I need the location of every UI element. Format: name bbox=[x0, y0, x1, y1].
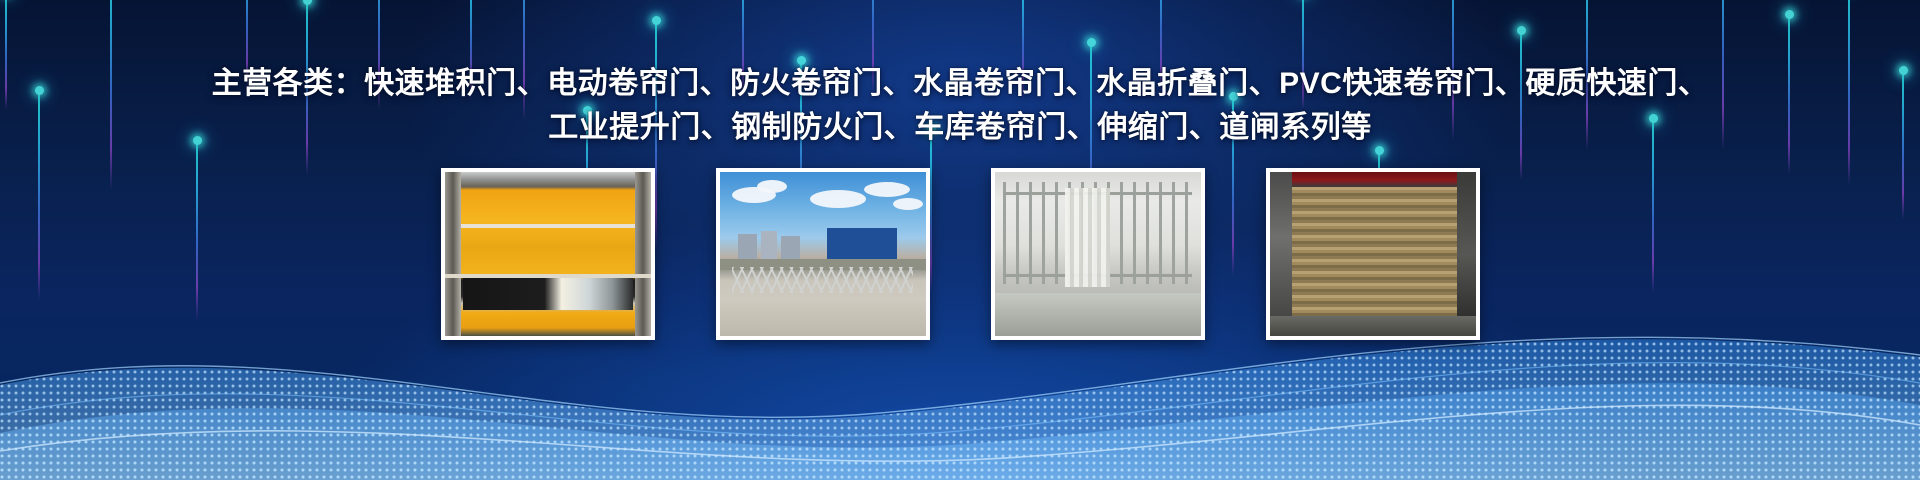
light-dot-icon bbox=[652, 16, 661, 25]
light-dot-icon bbox=[1785, 10, 1794, 19]
door-frame-left bbox=[445, 172, 461, 336]
product-photo-retractable-gate-outdoor[interactable] bbox=[716, 168, 930, 340]
light-dot-icon bbox=[1517, 26, 1526, 35]
banner-headline: 主营各类：快速堆积门、电动卷帘门、防火卷帘门、水晶卷帘门、水晶折叠门、PVC快速… bbox=[0, 62, 1920, 150]
headline-line-1: 主营各类：快速堆积门、电动卷帘门、防火卷帘门、水晶卷帘门、水晶折叠门、PVC快速… bbox=[0, 62, 1920, 106]
headline-line-2: 工业提升门、钢制防火门、车库卷帘门、伸缩门、道闸系列等 bbox=[0, 106, 1920, 150]
cloud-shape bbox=[864, 182, 910, 197]
building-shape bbox=[781, 236, 800, 259]
product-photo-bronze-garage-roller-shutter[interactable] bbox=[1266, 168, 1480, 340]
product-photo-yellow-high-speed-stacking-door[interactable] bbox=[441, 168, 655, 340]
promo-banner: 主营各类：快速堆积门、电动卷帘门、防火卷帘门、水晶卷帘门、水晶折叠门、PVC快速… bbox=[0, 0, 1920, 480]
garage-floor bbox=[1270, 316, 1476, 336]
cloud-shape bbox=[810, 190, 866, 208]
retractable-gate bbox=[732, 267, 913, 293]
building-shape bbox=[827, 228, 897, 261]
building-shape bbox=[761, 231, 777, 259]
photo-image-2 bbox=[720, 172, 926, 336]
cloud-shape bbox=[757, 180, 787, 193]
photo-image-1 bbox=[445, 172, 651, 336]
product-photo-strip bbox=[0, 168, 1920, 340]
light-dot-icon bbox=[1087, 38, 1096, 47]
photo-image-4 bbox=[1270, 172, 1476, 336]
pvc-strip-curtain bbox=[1065, 188, 1110, 286]
product-photo-pvc-strip-curtain-interior[interactable] bbox=[991, 168, 1205, 340]
shutter-header bbox=[1270, 172, 1476, 187]
photo-image-3 bbox=[995, 172, 1201, 336]
garage-wall-left bbox=[1270, 172, 1293, 336]
floor-surface bbox=[995, 293, 1201, 336]
cloud-shape bbox=[893, 198, 923, 210]
door-frame-right bbox=[635, 172, 651, 336]
door-vision-panel bbox=[463, 277, 633, 310]
light-dot-icon bbox=[303, 0, 312, 5]
garage-wall-right bbox=[1457, 172, 1476, 336]
building-shape bbox=[738, 234, 757, 259]
